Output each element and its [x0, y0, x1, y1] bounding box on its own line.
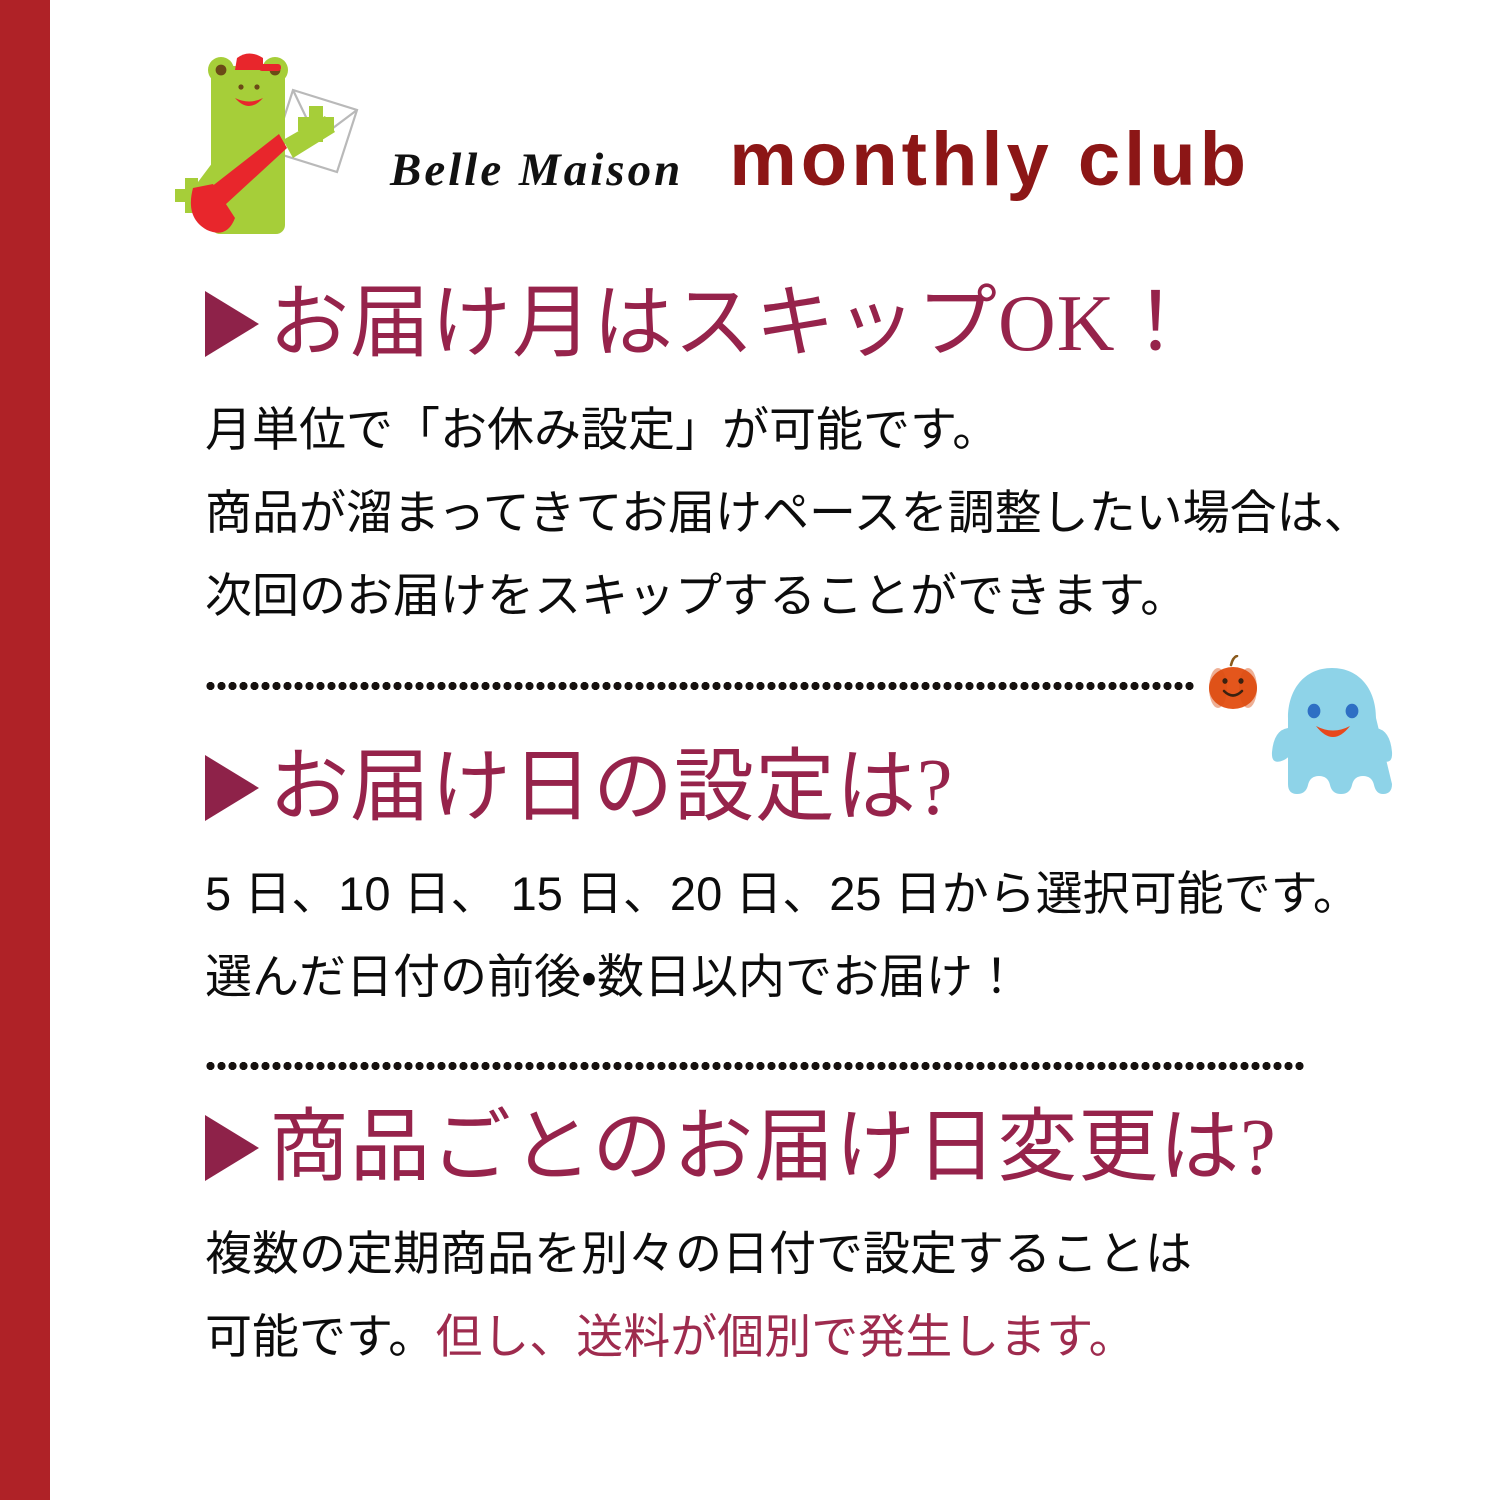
body-line: 月単位で「お休み設定」が可能です。: [205, 388, 1445, 471]
dotted-divider: [205, 1062, 1305, 1070]
header: Belle Maison monthly club: [175, 48, 1425, 248]
left-red-rail: [0, 0, 50, 1500]
pumpkin-icon: [1205, 655, 1261, 713]
brand-lockup: Belle Maison monthly club: [390, 122, 1250, 198]
triangle-bullet-icon: [205, 755, 259, 821]
section-per-item-change: 商品ごとのお届け日変更は? 複数の定期商品を別々の日付で設定することは 可能です…: [205, 1108, 1445, 1378]
body-line-mixed: 可能です。但し、送料が個別で発生します。: [205, 1295, 1445, 1378]
body-line: 商品が溜まってきてお届けペースを調整したい場合は、: [205, 471, 1445, 554]
body-line: 5 日、10 日、 15 日、20 日、25 日から選択可能です。: [205, 852, 1445, 935]
heading-row-delivery-date: お届け日の設定は?: [205, 748, 1445, 828]
body-line: 選んだ日付の前後・数日以内でお届け！: [205, 935, 1445, 1018]
brand-script-text: Belle Maison: [390, 143, 683, 197]
triangle-bullet-icon: [205, 291, 259, 357]
dotted-divider: [205, 682, 1195, 690]
section-heading-delivery-date: お届け日の設定は?: [269, 748, 954, 828]
section-skip-month: お届け月はスキップOK！ 月単位で「お休み設定」が可能です。 商品が溜まってきて…: [205, 284, 1445, 637]
section-delivery-date: お届け日の設定は? 5 日、10 日、 15 日、20 日、25 日から選択可能…: [205, 748, 1445, 1018]
body-line-plain: 可能です。: [205, 1310, 435, 1363]
frog-postman-mascot-icon: [175, 48, 365, 248]
heading-row-per-item-change: 商品ごとのお届け日変更は?: [205, 1108, 1445, 1188]
heading-row-skip-month: お届け月はスキップOK！: [205, 284, 1445, 364]
triangle-bullet-icon: [205, 1115, 259, 1181]
brand-title-text: monthly club: [729, 122, 1250, 198]
page-root: Belle Maison monthly club お届け月はスキップOK！ 月…: [0, 0, 1500, 1500]
section-heading-per-item-change: 商品ごとのお届け日変更は?: [269, 1108, 1277, 1188]
body-line: 複数の定期商品を別々の日付で設定することは: [205, 1212, 1445, 1295]
body-line: 次回のお届けをスキップすることができます。: [205, 554, 1445, 637]
body-line-accent: 但し、送料が個別で発生します。: [435, 1310, 1135, 1363]
section-heading-skip-month: お届け月はスキップOK！: [269, 284, 1197, 364]
